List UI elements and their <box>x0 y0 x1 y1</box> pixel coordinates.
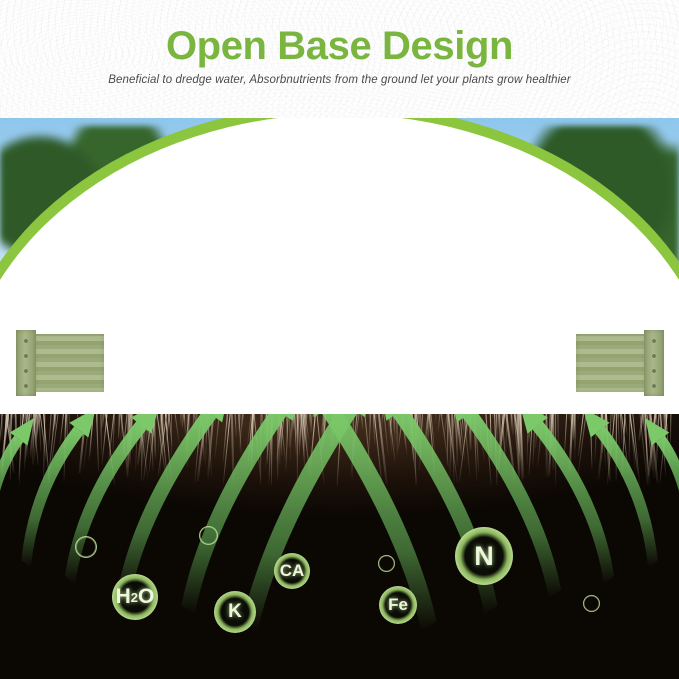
root-strand <box>555 380 556 486</box>
house-window <box>434 230 492 254</box>
scene-photo-region: H2OKCAFeN <box>0 118 679 679</box>
nutrient-bubble-h: H2O <box>112 574 158 620</box>
house-window <box>286 230 312 252</box>
corrugated-panel <box>34 334 104 392</box>
scene-clip: H2OKCAFeN <box>0 118 679 679</box>
nutrient-bubble-k: K <box>214 591 256 633</box>
screw-icon <box>24 369 28 373</box>
root-strand <box>396 380 398 455</box>
screw-icon <box>652 369 656 373</box>
nutrient-bubble-ca: CA <box>274 553 310 589</box>
root-strand <box>489 380 492 460</box>
product-feature-image: Open Base Design Beneficial to dredge wa… <box>0 0 679 679</box>
corner-post <box>16 330 36 396</box>
screw-icon <box>652 354 656 358</box>
root-system <box>0 380 679 490</box>
corrugated-panel <box>576 334 646 392</box>
house-gable <box>166 210 282 244</box>
page-subtitle: Beneficial to dredge water, Absorbnutrie… <box>0 74 679 86</box>
nutrient-bubble-n: N <box>455 527 513 585</box>
nutrient-bubble-empty <box>378 555 395 572</box>
nutrient-bubble-fe: Fe <box>379 586 417 624</box>
house-window <box>318 230 428 254</box>
house-roof <box>266 212 524 224</box>
root-strand <box>387 380 390 434</box>
nutrient-bubble-empty <box>75 536 97 558</box>
screw-icon <box>24 354 28 358</box>
garden-bed-panel-right <box>576 330 664 396</box>
nutrient-bubble-empty <box>583 595 600 612</box>
screw-icon <box>652 339 656 343</box>
garden-bed-panel-left <box>16 330 104 396</box>
root-strand <box>229 380 231 417</box>
root-strand <box>465 380 467 414</box>
corner-post <box>644 330 664 396</box>
root-strand <box>1 380 3 441</box>
page-title: Open Base Design <box>0 24 679 69</box>
screw-icon <box>24 384 28 388</box>
screw-icon <box>652 384 656 388</box>
root-strand <box>557 380 559 448</box>
root-strand <box>529 380 530 428</box>
screw-icon <box>24 339 28 343</box>
nutrient-bubble-empty <box>199 526 218 545</box>
